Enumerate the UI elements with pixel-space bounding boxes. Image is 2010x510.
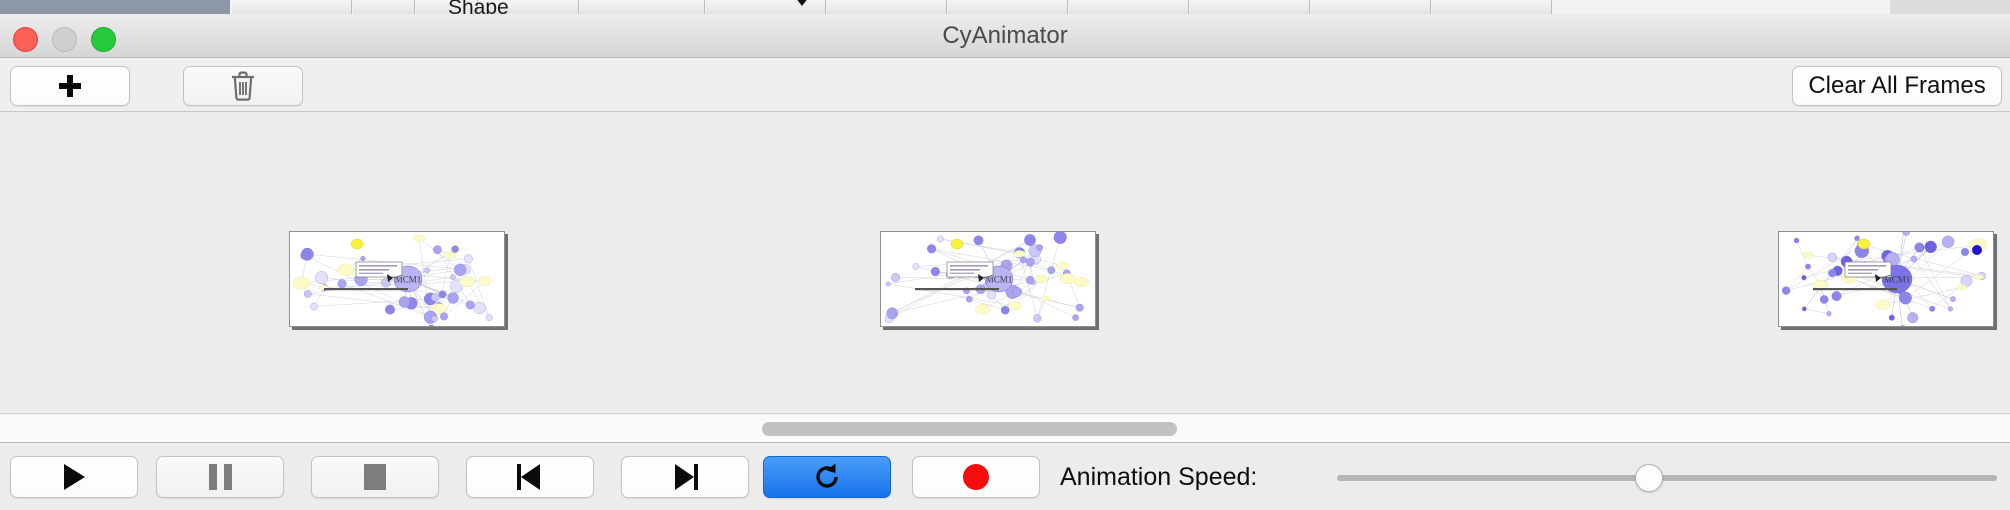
trash-icon (230, 71, 256, 101)
skip-forward-button[interactable] (621, 456, 749, 498)
background-caret-icon (795, 0, 809, 6)
clear-all-frames-button[interactable]: Clear All Frames (1792, 66, 2002, 106)
background-tab-1 (232, 0, 352, 14)
network-graph-thumbnail: MCM1 (881, 232, 1095, 326)
clear-all-frames-label: Clear All Frames (1808, 72, 1985, 100)
record-button[interactable] (912, 456, 1040, 498)
play-button[interactable] (10, 456, 138, 498)
background-tab-2 (353, 0, 415, 14)
animation-speed-slider-thumb[interactable] (1635, 464, 1663, 492)
frame-thumbnail-3[interactable]: MCM1 (1778, 231, 1994, 327)
background-tab-11 (1311, 0, 1431, 14)
record-icon (963, 464, 989, 490)
background-tab-7 (827, 0, 947, 14)
stop-icon (364, 464, 386, 490)
add-frame-button[interactable] (10, 66, 130, 106)
horizontal-scrollbar[interactable] (0, 415, 2010, 443)
animation-speed-label: Animation Speed: (1060, 456, 1257, 498)
delete-frame-button[interactable] (183, 66, 303, 106)
background-tab-8 (948, 0, 1068, 14)
network-graph-thumbnail: MCM1 (1779, 232, 1993, 326)
stop-button[interactable] (311, 456, 439, 498)
skip-forward-icon (672, 464, 698, 490)
toolbar: Clear All Frames (0, 58, 2010, 112)
skip-back-button[interactable] (466, 456, 594, 498)
scrollbar-thumb[interactable] (762, 422, 1177, 436)
frame-thumbnail-2[interactable]: MCM1 (880, 231, 1096, 327)
background-dark-tab (0, 0, 230, 14)
cyanimator-window: Shape CyAnimator Clear All Frames (0, 0, 2010, 510)
window-title: CyAnimator (0, 14, 2010, 58)
pause-button[interactable] (156, 456, 284, 498)
frame-thumbnail-1[interactable]: MCM1 (289, 231, 505, 327)
title-bar: CyAnimator (0, 14, 2010, 58)
background-scroll-corner (1890, 0, 2010, 14)
loop-icon (812, 462, 842, 492)
play-icon (64, 464, 85, 490)
network-graph-thumbnail: MCM1 (290, 232, 504, 326)
background-window-strip: Shape (0, 0, 2010, 14)
background-tab-9 (1069, 0, 1189, 14)
timeline-panel[interactable]: MCM1 MCM1 MCM1 2131415161718 Seconds (0, 113, 2010, 414)
background-tab-10 (1190, 0, 1310, 14)
playback-controls: Animation Speed: (0, 444, 2010, 510)
background-window-label: Shape (448, 0, 509, 14)
plus-icon (59, 75, 81, 97)
skip-back-icon (517, 464, 543, 490)
pause-icon (209, 464, 232, 490)
animation-speed-slider[interactable] (1337, 475, 1997, 481)
background-tab-12 (1432, 0, 1552, 14)
background-tab-5 (580, 0, 705, 14)
loop-button[interactable] (763, 456, 891, 498)
